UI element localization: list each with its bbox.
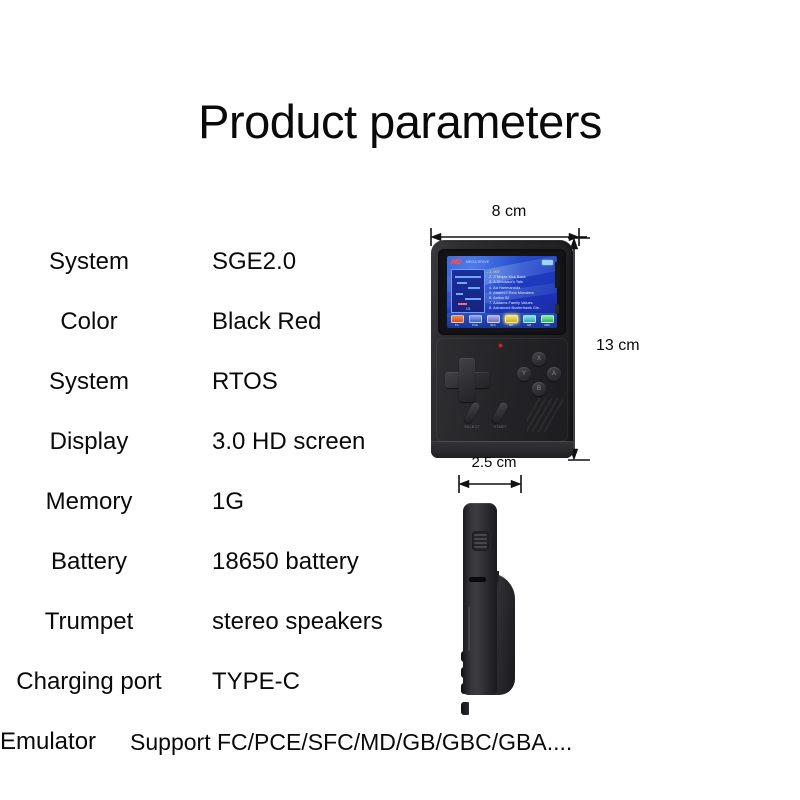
table-row: Charging port TYPE-C: [0, 652, 420, 712]
action-button-cluster[interactable]: X Y A B: [517, 352, 563, 398]
button-b[interactable]: B: [532, 382, 546, 396]
system-icon-gb[interactable]: GB: [522, 315, 537, 327]
grip-texture-ribs: [472, 531, 489, 551]
spec-label: Battery: [0, 548, 178, 576]
dimension-width-label: 8 cm: [429, 204, 589, 220]
spec-value: 18650 battery: [178, 548, 420, 576]
spec-value: TYPE-C: [178, 668, 420, 696]
table-row: System RTOS: [0, 352, 420, 412]
cursor-icon: →: [485, 270, 489, 274]
speaker-grille: [527, 398, 563, 432]
system-icon-pce[interactable]: PCE: [468, 315, 483, 327]
list-item[interactable]: 8. Advanced Busterhawk Gle..: [489, 305, 555, 310]
system-icon-label: MD: [504, 323, 519, 327]
spec-value: 1G: [178, 488, 420, 516]
spec-label: System: [0, 248, 178, 276]
select-button[interactable]: SELECT: [457, 402, 487, 430]
game-list[interactable]: → 1. 007 2. 3 Ninjas Kick Back 3. A Dino…: [489, 269, 555, 311]
button-a[interactable]: A: [547, 367, 561, 381]
console-icon: [505, 315, 518, 323]
table-row: Display 3.0 HD screen: [0, 412, 420, 472]
spec-label: Emulator: [0, 728, 96, 756]
console-icon: [523, 315, 536, 323]
start-button-cap: [491, 401, 508, 424]
dimension-depth-arrow-icon: [457, 475, 531, 493]
table-row: Battery 18650 battery: [0, 532, 420, 592]
console-front-view: 8 cm 13 cm: [415, 200, 665, 465]
system-icon-bar[interactable]: FC PCE SFC MD: [447, 313, 557, 328]
system-icon-fc[interactable]: FC: [450, 315, 465, 327]
spec-label: System: [0, 368, 178, 396]
system-icon-label: FC: [450, 323, 465, 327]
table-row: Memory 1G: [0, 472, 420, 532]
console-body-side: [463, 503, 497, 695]
console-icon: [487, 315, 500, 323]
button-y[interactable]: Y: [517, 367, 531, 381]
dimension-height: 13 cm: [560, 234, 665, 464]
system-icon-sfc[interactable]: SFC: [486, 315, 501, 327]
spec-value: SGE2.0: [178, 248, 420, 276]
start-button[interactable]: START: [485, 402, 515, 430]
console-side-port-nub: [555, 304, 559, 314]
spec-label: Memory: [0, 488, 178, 516]
system-icon-label: SFC: [486, 323, 501, 327]
spec-value: 3.0 HD screen: [178, 428, 420, 456]
console-icon: [469, 315, 482, 323]
system-icon-label: PCE: [468, 323, 483, 327]
spec-value: RTOS: [178, 368, 420, 396]
spec-value: stereo speakers: [178, 608, 420, 636]
dimension-depth: 2.5 cm: [457, 455, 531, 495]
console-body-front: MD MEGA DRIVE 1/8 →: [431, 240, 573, 458]
spec-label: Color: [0, 308, 178, 336]
spec-label: Trumpet: [0, 608, 178, 636]
table-row: System SGE2.0: [0, 232, 420, 292]
system-icon-label: GB: [522, 323, 537, 327]
system-icon-gbc[interactable]: GBC: [540, 315, 555, 327]
dpad-vertical-bar: [459, 358, 475, 402]
select-button-cap: [463, 401, 480, 424]
side-button[interactable]: [461, 683, 468, 694]
dimension-height-label: 13 cm: [596, 338, 640, 354]
select-button-label: SELECT: [457, 426, 487, 430]
dimension-depth-label: 2.5 cm: [457, 455, 531, 470]
console-shoulder-nub: [555, 262, 560, 288]
button-x[interactable]: X: [532, 352, 546, 366]
specification-table: System SGE2.0 Color Black Red System RTO…: [0, 232, 420, 772]
side-button[interactable]: [461, 667, 468, 678]
game-preview-thumbnail: 1/8: [451, 269, 485, 313]
thumbnail-label: 1/8: [452, 308, 484, 311]
usb-c-port: [469, 577, 486, 582]
console-screen[interactable]: MD MEGA DRIVE 1/8 →: [447, 256, 557, 328]
spec-label: Charging port: [0, 668, 178, 696]
side-button[interactable]: [461, 702, 469, 715]
system-icon-label: GBC: [540, 323, 555, 327]
spec-label: Display: [0, 428, 178, 456]
start-button-label: START: [485, 426, 515, 430]
console-side-view: 2.5 cm: [443, 455, 653, 705]
console-icon: [451, 315, 464, 323]
screen-bezel: MD MEGA DRIVE 1/8 →: [438, 249, 566, 335]
product-illustration: 8 cm 13 cm: [415, 0, 800, 800]
screen-logo: MD: [451, 259, 461, 266]
system-icon-md[interactable]: MD: [504, 315, 519, 327]
table-row: Trumpet stereo speakers: [0, 592, 420, 652]
table-row: Emulator Support FC/PCE/SFC/MD/GB/GBC/GB…: [0, 712, 420, 772]
screen-subtitle: MEGA DRIVE: [466, 261, 489, 264]
dpad-control[interactable]: [445, 358, 489, 402]
spec-value: Black Red: [178, 308, 420, 336]
power-led-indicator: [499, 344, 502, 347]
console-icon: [541, 315, 554, 323]
side-seam-line: [468, 607, 470, 651]
battery-icon: [542, 260, 553, 265]
side-button[interactable]: [461, 651, 468, 662]
table-row: Color Black Red: [0, 292, 420, 352]
